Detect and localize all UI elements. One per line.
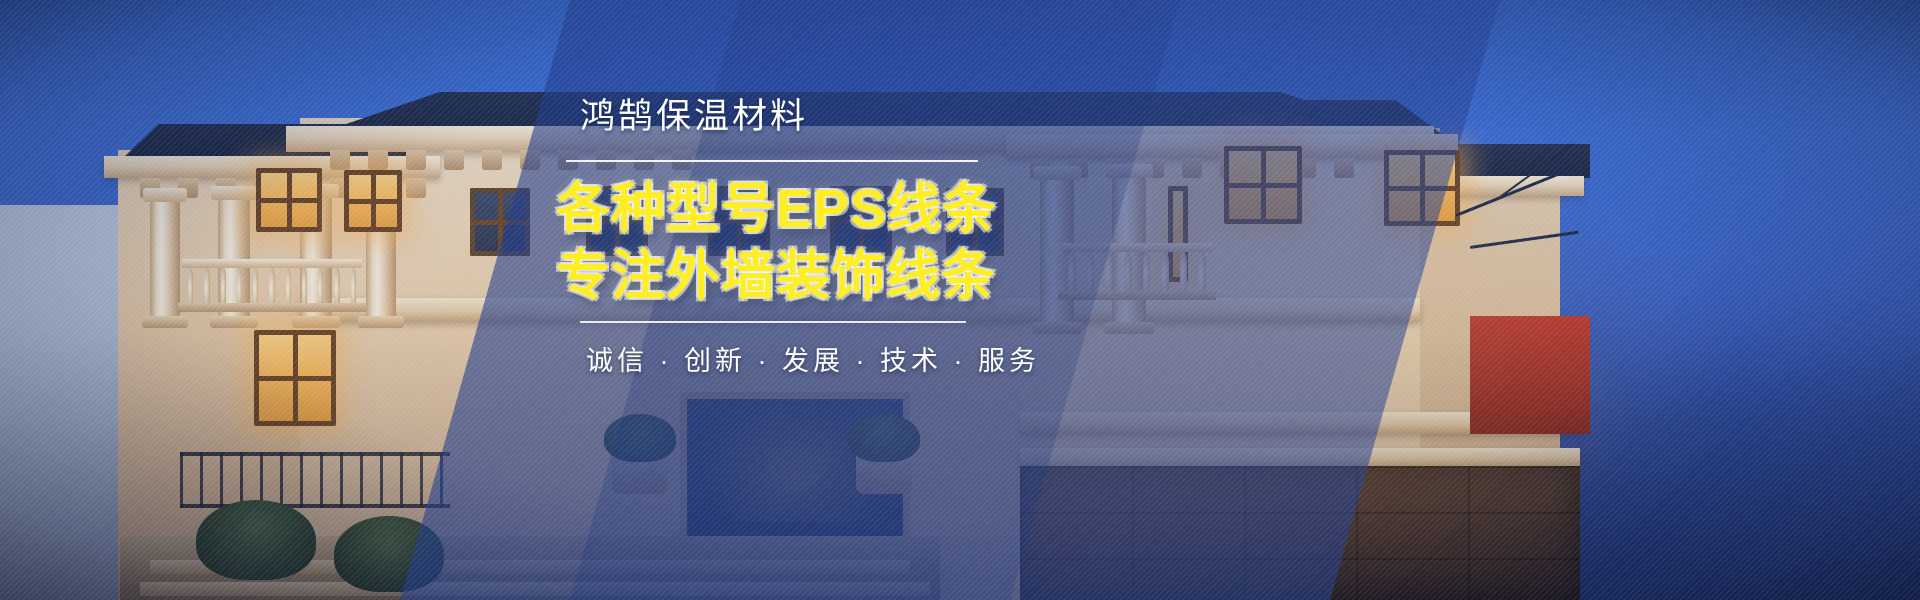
headline-line-1: 各种型号EPS线条 <box>556 178 1016 241</box>
tagline: 诚信 · 创新 · 发展 · 技术 · 服务 <box>586 339 1016 378</box>
divider-top <box>566 160 978 162</box>
brand-name: 鸿鹄保温材料 <box>580 96 1016 138</box>
divider-bottom <box>580 321 966 323</box>
hero-banner: 鸿鹄保温材料 各种型号EPS线条 专注外墙装饰线条 诚信 · 创新 · 发展 ·… <box>0 0 1920 600</box>
banner-text-block: 鸿鹄保温材料 各种型号EPS线条 专注外墙装饰线条 诚信 · 创新 · 发展 ·… <box>556 96 1016 378</box>
headline-line-2: 专注外墙装饰线条 <box>556 245 1016 308</box>
